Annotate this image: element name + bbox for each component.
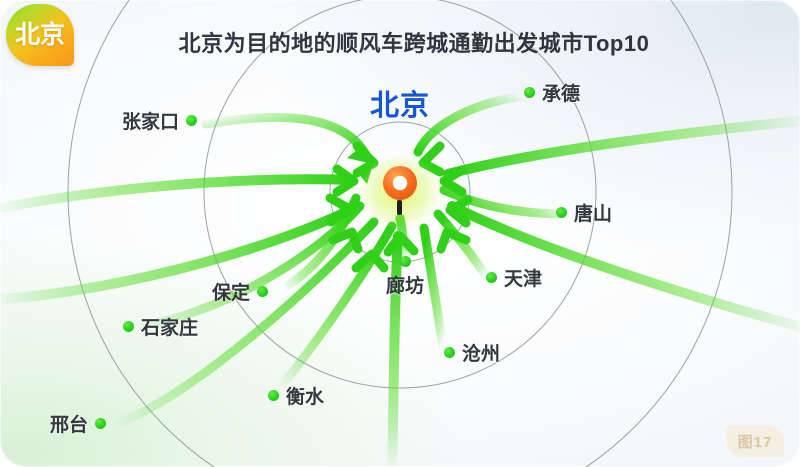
- page-title: 北京为目的地的顺风车跨城通勤出发城市Top10: [0, 26, 800, 58]
- city-label-cangzhou: 沧州: [462, 339, 500, 366]
- city-dot-tianjin: [486, 272, 497, 283]
- location-pin-stem: [397, 200, 402, 215]
- center-marker-layer: [0, 0, 800, 467]
- city-node-tangshan[interactable]: 唐山: [556, 199, 612, 226]
- location-pin-hole: [393, 176, 407, 190]
- city-label-xingtai: 邢台: [50, 410, 88, 437]
- city-dot-xingtai: [95, 418, 106, 429]
- city-label-hengshui: 衡水: [286, 382, 324, 409]
- city-node-baoding[interactable]: 保定: [212, 278, 268, 305]
- city-label-shijiazhuang: 石家庄: [141, 313, 198, 340]
- city-dot-shijiazhuang: [123, 321, 134, 332]
- watermark-label: 图17: [738, 431, 773, 452]
- city-node-xingtai[interactable]: 邢台: [50, 410, 106, 437]
- city-dot-zhangjiakou: [186, 115, 197, 126]
- infographic-card: 北京 北京为目的地的顺风车跨城通勤出发城市Top10 北京 张家口 承德 唐山 …: [0, 0, 800, 467]
- city-node-zhangjiakou[interactable]: 张家口: [122, 107, 197, 134]
- city-node-tianjin[interactable]: 天津: [486, 264, 542, 291]
- city-dot-baoding: [257, 286, 268, 297]
- city-dot-langfang: [400, 256, 411, 267]
- city-label-baoding: 保定: [212, 278, 250, 305]
- city-node-langfang[interactable]: 廊坊: [386, 256, 424, 298]
- city-dot-tangshan: [556, 207, 567, 218]
- city-node-hengshui[interactable]: 衡水: [268, 382, 324, 409]
- city-node-shijiazhuang[interactable]: 石家庄: [123, 313, 198, 340]
- city-label-tangshan: 唐山: [574, 199, 612, 226]
- city-node-cangzhou[interactable]: 沧州: [444, 339, 500, 366]
- center-city-label: 北京: [345, 82, 455, 124]
- city-dot-cangzhou: [444, 347, 455, 358]
- city-label-langfang: 廊坊: [386, 271, 424, 298]
- watermark: 图17: [726, 425, 784, 457]
- city-dot-hengshui: [268, 390, 279, 401]
- city-label-tianjin: 天津: [504, 264, 542, 291]
- city-dot-chengde: [524, 87, 535, 98]
- city-label-chengde: 承德: [542, 79, 580, 106]
- city-node-chengde[interactable]: 承德: [524, 79, 580, 106]
- city-label-zhangjiakou: 张家口: [122, 107, 179, 134]
